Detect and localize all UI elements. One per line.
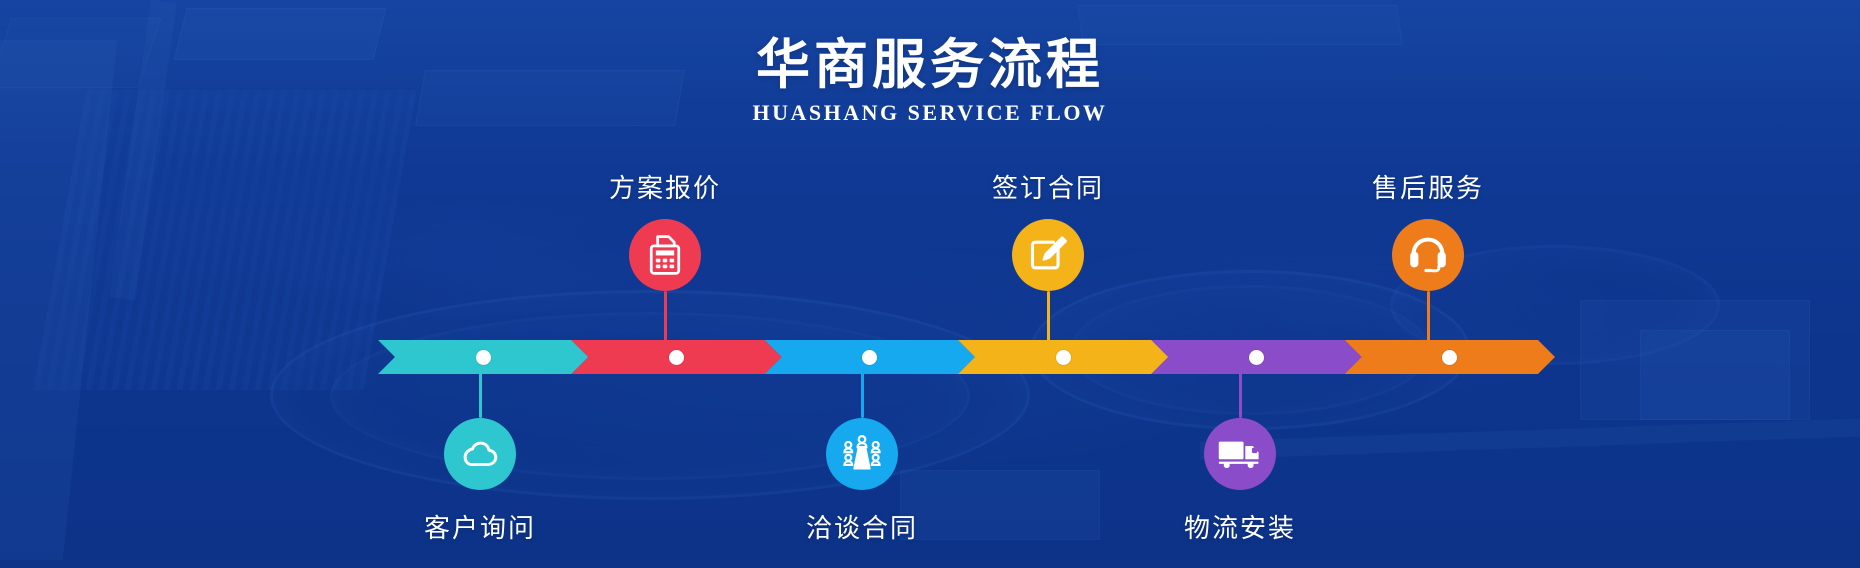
meeting-table-icon <box>840 433 884 475</box>
calculator-icon <box>644 233 686 277</box>
flow-node-marker-4 <box>1056 350 1071 365</box>
flow-segment-6[interactable] <box>1345 340 1555 374</box>
flow-step-label-3: 洽谈合同 <box>806 508 918 545</box>
flow-segment-1[interactable] <box>378 340 588 374</box>
flow-node-marker-5 <box>1249 350 1264 365</box>
headset-icon <box>1406 234 1450 276</box>
delivery-truck-icon <box>1217 436 1263 472</box>
flow-node-marker-2 <box>669 350 684 365</box>
flow-step-label-6: 售后服务 <box>1372 168 1484 205</box>
flow-step-label-4: 签订合同 <box>992 168 1104 205</box>
flow-node-marker-1 <box>476 350 491 365</box>
flow-node-marker-6 <box>1442 350 1457 365</box>
banner-content: 华商服务流程 HUASHANG SERVICE FLOW 客户询问 方案报价 <box>0 0 1860 568</box>
flow-step-badge-3[interactable] <box>826 418 898 490</box>
flow-segment-4[interactable] <box>958 340 1168 374</box>
flow-segment-2[interactable] <box>571 340 781 374</box>
flow-step-label-1: 客户询问 <box>424 508 536 545</box>
page-subtitle: HUASHANG SERVICE FLOW <box>0 100 1860 126</box>
flow-step-badge-2[interactable] <box>629 219 701 291</box>
flow-step-badge-6[interactable] <box>1392 219 1464 291</box>
flow-arrow-ribbon <box>378 340 1538 374</box>
service-flow-banner: 华商服务流程 HUASHANG SERVICE FLOW 客户询问 方案报价 <box>0 0 1860 568</box>
flow-step-label-5: 物流安装 <box>1184 508 1296 545</box>
flow-step-badge-1[interactable] <box>444 418 516 490</box>
flow-node-marker-3 <box>862 350 877 365</box>
flow-step-label-2: 方案报价 <box>609 168 721 205</box>
flow-segment-5[interactable] <box>1151 340 1361 374</box>
flow-step-badge-5[interactable] <box>1204 418 1276 490</box>
flow-step-badge-4[interactable] <box>1012 219 1084 291</box>
pencil-edit-icon <box>1027 234 1069 276</box>
page-title: 华商服务流程 <box>0 20 1860 99</box>
cloud-icon <box>459 433 501 475</box>
flow-segment-3[interactable] <box>765 340 975 374</box>
